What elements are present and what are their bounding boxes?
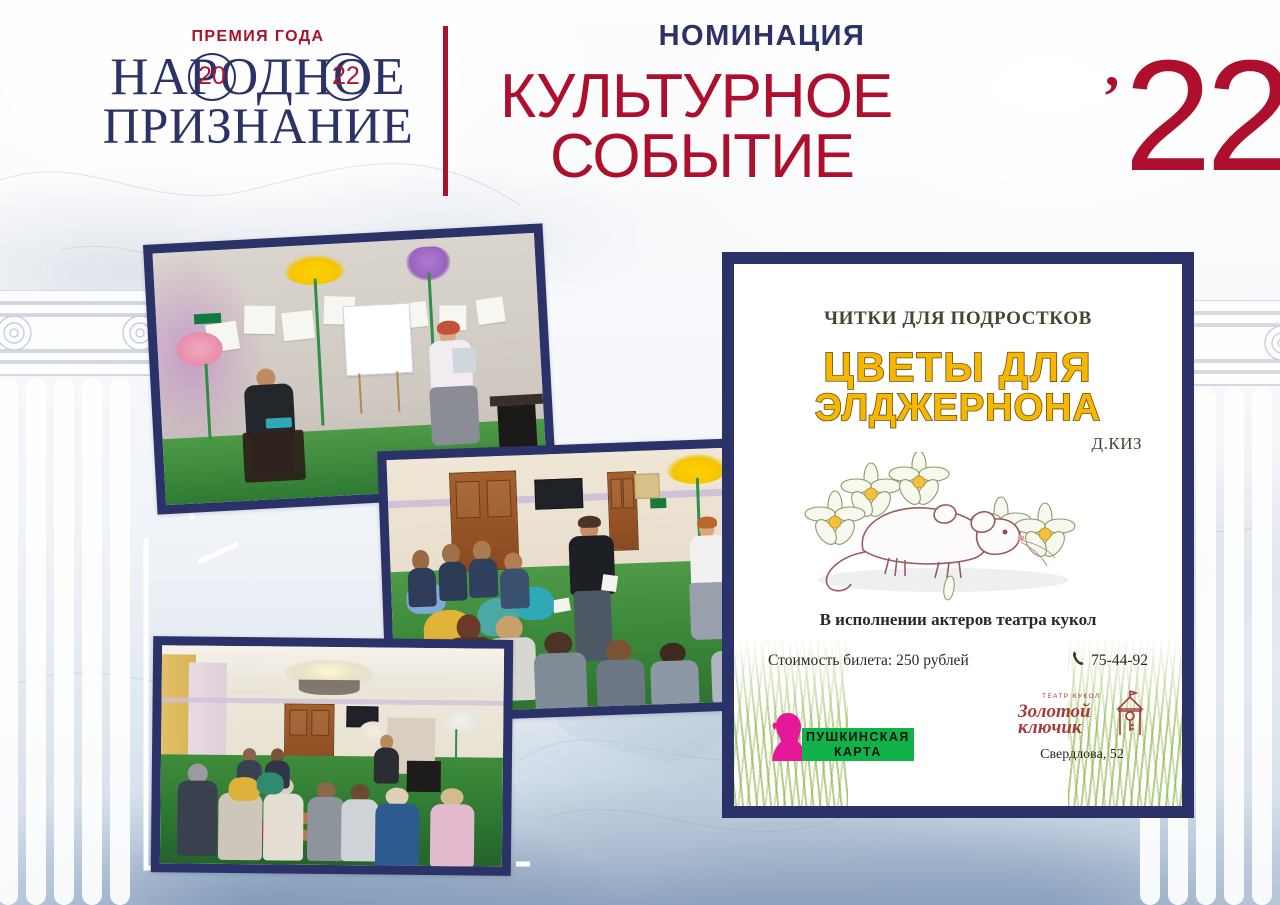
svg-text:ключик: ключик	[1018, 717, 1083, 738]
photo-hall-wide-scene	[160, 645, 504, 867]
poster-phone[interactable]: 75-44-92	[1072, 650, 1148, 671]
poster-title-line1: ЦВЕТЫ ДЛЯ	[824, 344, 1093, 390]
mouse-with-daisies-icon	[734, 452, 1182, 604]
poster-title: ЦВЕТЫ ДЛЯ ЭЛДЖЕРНОНА	[734, 346, 1182, 428]
award-logo: ПРЕМИЯ ГОДА НАРОДНОЕ 20 22 ПРИЗНАНИЕ	[78, 28, 438, 152]
header-divider	[443, 26, 448, 196]
poster-phone-number: 75-44-92	[1091, 652, 1148, 670]
pushkin-card-line2: КАРТА	[806, 745, 910, 759]
pushkin-card-logo: ПУШКИНСКАЯ КАРТА	[768, 711, 914, 763]
award-poster: ПРЕМИЯ ГОДА НАРОДНОЕ 20 22 ПРИЗНАНИЕ НОМ…	[0, 0, 1280, 905]
nomination-apostrophe: ’	[1102, 63, 1121, 130]
award-year-22-text: 22	[332, 62, 360, 90]
svg-text:ТЕАТР КУКОЛ: ТЕАТР КУКОЛ	[1042, 693, 1101, 700]
award-year-20: 20	[198, 64, 226, 89]
theatre-address: Свердлова, 52	[1016, 747, 1148, 763]
photo-hall-wide	[151, 636, 513, 876]
award-wordmark: НАРОДНОЕ 20 22 ПРИЗНАНИЕ	[78, 52, 438, 152]
nomination-wordmark: КУЛЬТУРНОЕ СОБЫТИЕ ’ 22	[492, 53, 1192, 199]
poster-ticket-row: Стоимость билета: 250 рублей 75-44-92	[768, 650, 1148, 671]
pushkin-card-line1: ПУШКИНСКАЯ	[806, 730, 910, 744]
phone-icon	[1072, 650, 1085, 671]
award-name-line2: ПРИЗНАНИЕ	[78, 103, 438, 152]
pushkin-card-tag: ПУШКИНСКАЯ КАРТА	[802, 728, 914, 761]
golden-key-theatre-logo: ТЕАТР КУКОЛ Золотой ключик Свердлова, 5	[1016, 687, 1148, 763]
nomination-line2: СОБЫТИЕ	[550, 121, 854, 192]
award-year-20-text: 20	[198, 62, 226, 90]
event-poster-sheet: ЧИТКИ ДЛЯ ПОДРОСТКОВ ЦВЕТЫ ДЛЯ ЭЛДЖЕРНОН…	[734, 264, 1182, 806]
nomination-block: НОМИНАЦИЯ КУЛЬТУРНОЕ СОБЫТИЕ ’ 22	[492, 20, 1192, 199]
corner-decoration-diagonal	[196, 540, 242, 566]
nomination-kicker: НОМИНАЦИЯ	[522, 20, 1002, 53]
photo-hall-wide-image	[160, 645, 504, 867]
award-name-line1: НАРОДНОЕ	[78, 52, 438, 103]
poster-price: Стоимость билета: 250 рублей	[768, 652, 969, 670]
nomination-year: 22	[1124, 37, 1280, 195]
award-year-22: 22	[332, 64, 360, 89]
poster-header: ПРЕМИЯ ГОДА НАРОДНОЕ 20 22 ПРИЗНАНИЕ НОМ…	[0, 0, 1280, 232]
event-poster: ЧИТКИ ДЛЯ ПОДРОСТКОВ ЦВЕТЫ ДЛЯ ЭЛДЖЕРНОН…	[722, 252, 1194, 818]
poster-title-line2: ЭЛДЖЕРНОНА	[734, 389, 1182, 429]
award-kicker: ПРЕМИЯ ГОДА	[78, 28, 438, 46]
poster-subtitle: ЧИТКИ ДЛЯ ПОДРОСТКОВ	[734, 308, 1182, 330]
poster-author: Д.КИЗ	[734, 434, 1142, 454]
poster-performed-by: В исполнении актеров театра кукол	[734, 610, 1182, 630]
poster-logos: ПУШКИНСКАЯ КАРТА ТЕАТР КУКОЛ Золотой клю…	[768, 687, 1148, 763]
